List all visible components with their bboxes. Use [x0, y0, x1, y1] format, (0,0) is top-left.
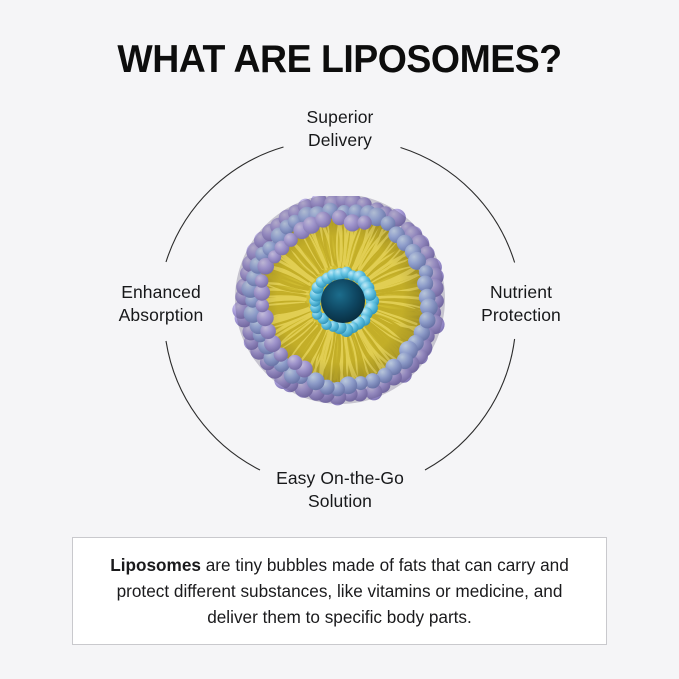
benefit-label-bottom-line2: Solution — [190, 490, 490, 513]
aqueous-core — [321, 279, 365, 323]
definition-callout-box: Liposomes are tiny bubbles made of fats … — [72, 537, 607, 645]
benefit-label-bottom-line1: Easy On-the-Go — [276, 468, 404, 488]
benefit-label-top-line2: Delivery — [190, 129, 490, 152]
infographic-root: WHAT ARE LIPOSOMES? — [0, 0, 679, 679]
definition-text: Liposomes are tiny bubbles made of fats … — [73, 552, 606, 630]
benefit-label-nutrient-protection: Nutrient Protection — [406, 281, 636, 328]
benefit-label-superior-delivery: Superior Delivery — [190, 106, 490, 153]
page-title: WHAT ARE LIPOSOMES? — [14, 38, 666, 82]
benefit-label-right-line2: Protection — [406, 304, 636, 327]
benefit-label-easy-on-the-go: Easy On-the-Go Solution — [190, 467, 490, 514]
benefit-label-right-line1: Nutrient — [490, 282, 552, 302]
benefit-label-left-line2: Absorption — [46, 304, 276, 327]
benefit-label-top-line1: Superior — [307, 107, 374, 127]
definition-bold-lead: Liposomes — [110, 555, 201, 575]
benefit-label-enhanced-absorption: Enhanced Absorption — [46, 281, 276, 328]
benefit-label-left-line1: Enhanced — [121, 282, 201, 302]
liposome-benefits-diagram: Superior Delivery Enhanced Absorption Nu… — [0, 96, 679, 526]
